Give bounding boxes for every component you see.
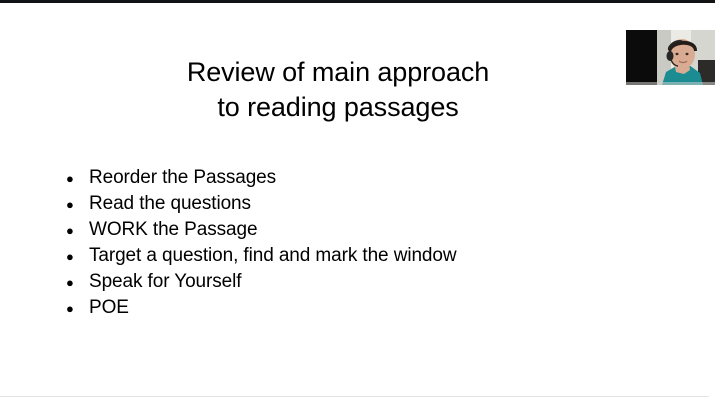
bullet-dot-icon: ●: [66, 218, 89, 244]
list-item: ● POE: [66, 295, 456, 321]
bullet-dot-icon: ●: [66, 296, 89, 322]
list-item-label: Reorder the Passages: [89, 165, 276, 191]
list-item: ● Target a question, find and mark the w…: [66, 243, 456, 269]
bullet-dot-icon: ●: [66, 270, 89, 296]
slide-title: Review of main approach to reading passa…: [0, 55, 676, 125]
list-item-label: WORK the Passage: [89, 217, 257, 243]
slide-bullet-list: ● Reorder the Passages ● Read the questi…: [66, 165, 456, 321]
bullet-dot-icon: ●: [66, 192, 89, 218]
list-item-label: Read the questions: [89, 191, 251, 217]
presenter-webcam-tile[interactable]: [626, 30, 715, 85]
webcam-video-frame: [626, 30, 715, 85]
bullet-dot-icon: ●: [66, 244, 89, 270]
list-item: ● Speak for Yourself: [66, 269, 456, 295]
list-item: ● Read the questions: [66, 191, 456, 217]
list-item: ● WORK the Passage: [66, 217, 456, 243]
list-item-label: POE: [89, 295, 129, 321]
bottom-divider: [0, 396, 709, 397]
screen-capture: Review of main approach to reading passa…: [0, 0, 715, 402]
bullet-dot-icon: ●: [66, 166, 89, 192]
presentation-slide: Review of main approach to reading passa…: [0, 3, 715, 402]
list-item: ● Reorder the Passages: [66, 165, 456, 191]
list-item-label: Target a question, find and mark the win…: [89, 243, 456, 269]
list-item-label: Speak for Yourself: [89, 269, 241, 295]
